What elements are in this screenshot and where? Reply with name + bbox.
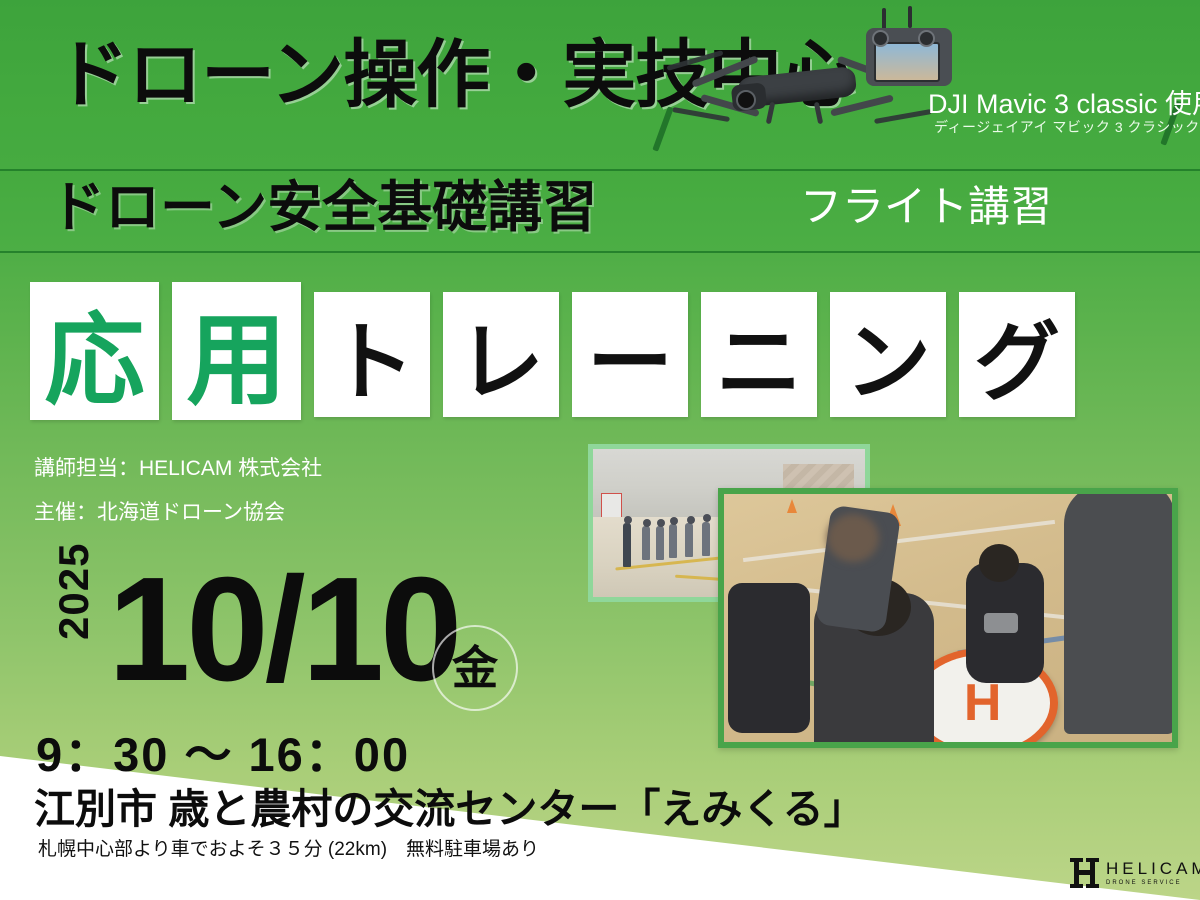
- instructor-line: 講師担当：HELICAM 株式会社: [34, 452, 322, 482]
- drone-model-ruby: ディージェイアイ マビック 3 クラシック: [934, 117, 1200, 137]
- logo-name: HELICAM: [1106, 860, 1200, 879]
- drone-icon: [660, 10, 940, 150]
- logo-tagline: DRONE SERVICE: [1106, 880, 1200, 887]
- title-tile: レ: [443, 292, 559, 417]
- weekday-label: 金: [452, 645, 498, 691]
- weekday-badge: 金: [432, 625, 518, 711]
- course-subtitle: フライト講習: [800, 186, 1052, 228]
- photo-drone-briefing: H: [718, 488, 1178, 748]
- course-name: ドローン安全基礎講習: [50, 180, 597, 235]
- title-tile: ニ: [701, 292, 817, 417]
- title-tile: ン: [830, 292, 946, 417]
- title-tile: グ: [959, 292, 1075, 417]
- divider-rule-top: [0, 169, 1200, 171]
- event-date: 10/10: [108, 556, 458, 704]
- title-tile: 応: [30, 282, 159, 420]
- poster-root: ドローン操作・実技中心 DJI Mavic 3 classic 使用 ディージェ…: [0, 0, 1200, 900]
- remote-controller-icon: [866, 10, 976, 90]
- title-tile: ト: [314, 292, 430, 417]
- title-tile: 用: [172, 282, 301, 420]
- title-tiles: 応用トレーニング: [30, 282, 1075, 420]
- event-venue: 江別市 歳と農村の交流センター「えみくる」: [34, 775, 865, 835]
- helicam-logo: HELICAM DRONE SERVICE: [1074, 858, 1200, 888]
- drone-model-caption: DJI Mavic 3 classic 使用: [928, 82, 1200, 121]
- event-year: 2025: [50, 520, 98, 640]
- divider-rule-bottom: [0, 251, 1200, 253]
- helicam-h-mark-icon: [1074, 858, 1098, 888]
- event-access-note: 札幌中心部より車でおよそ３５分 (22km) 無料駐車場あり: [38, 834, 539, 861]
- title-tile: ー: [572, 292, 688, 417]
